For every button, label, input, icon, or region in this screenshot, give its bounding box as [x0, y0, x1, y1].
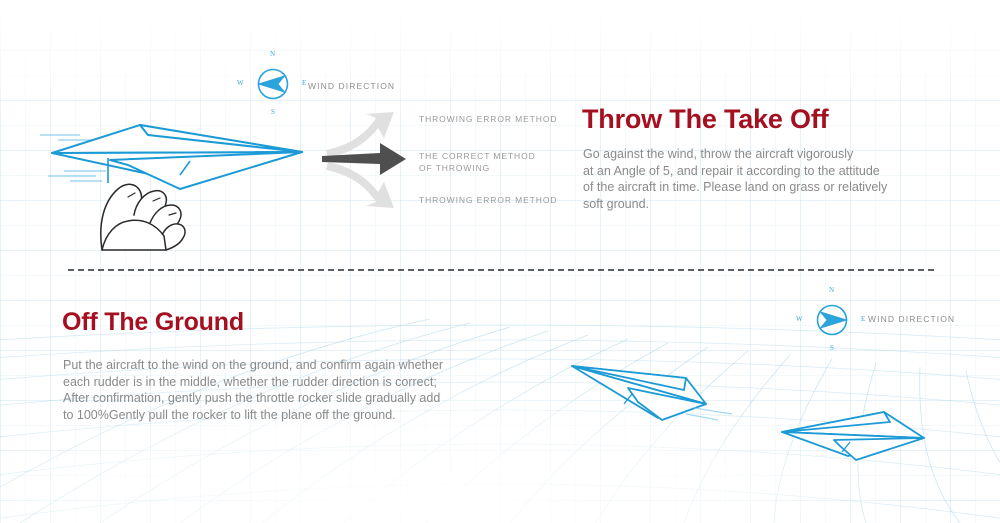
method-label-error-top: THROWING ERROR METHOD [419, 113, 557, 125]
throw-direction-arrows [322, 112, 414, 208]
compass-rose-icon [249, 60, 297, 108]
compass-west-label: W [796, 315, 803, 323]
section-paragraph-throw-take-off: Go against the wind, throw the aircraft … [583, 146, 963, 212]
compass-east-label: E [302, 79, 307, 87]
compass-north-label: N [829, 286, 834, 294]
hand-throwing-paper-plane [40, 105, 345, 250]
method-label-error-bottom: THROWING ERROR METHOD [419, 194, 557, 206]
section-heading-off-the-ground: Off The Ground [62, 308, 244, 337]
compass-south-label: S [830, 344, 834, 352]
paper-plane-flying-lower-right [778, 404, 948, 466]
section-paragraph-off-the-ground: Put the aircraft to the wind on the grou… [63, 357, 563, 423]
section-divider [68, 269, 934, 271]
compass-east-label: E [861, 315, 866, 323]
method-label-correct: THE CORRECT METHOD OF THROWING [419, 150, 536, 174]
compass-west-label: W [237, 79, 244, 87]
compass-north-label: N [270, 50, 275, 58]
wind-direction-label-bottom: WIND DIRECTION [868, 314, 955, 324]
wind-direction-label-top: WIND DIRECTION [308, 81, 395, 91]
instruction-page: N W E S WIND DIRECTION [0, 0, 1000, 523]
wind-direction-compass-top: N W E S [249, 60, 297, 108]
background-fade-top [0, 0, 1000, 120]
compass-rose-icon [808, 296, 856, 344]
paper-plane-flying-upper-left [566, 358, 736, 426]
section-heading-throw-take-off: Throw The Take Off [582, 104, 828, 135]
wind-direction-compass-bottom: N W E S [808, 296, 856, 344]
